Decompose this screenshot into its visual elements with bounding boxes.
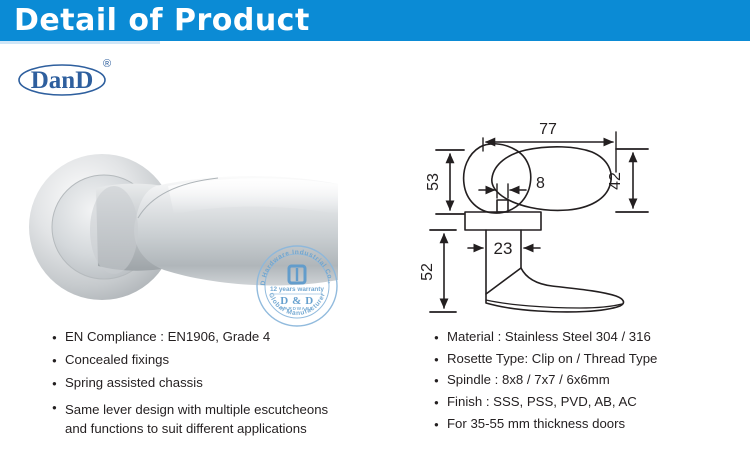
side-view-rosette-plate [465, 212, 541, 230]
dim-53-label: 53 [425, 173, 442, 191]
header-underline-accent [0, 41, 160, 44]
brand-logo: DanD ® [18, 52, 128, 98]
left-feature-list: EN Compliance : EN1906, Grade 4 Conceale… [52, 330, 382, 448]
dim-77-label: 77 [539, 121, 557, 138]
header-banner: Detail of Product [0, 0, 750, 41]
dim-23-label: 23 [494, 239, 513, 258]
seal-subbrand: HARDWARE [280, 306, 313, 311]
warranty-seal: D&D Hardware Industrial Co.,Ltd Global M… [255, 244, 339, 328]
list-item: For 35-55 mm thickness doors [434, 417, 744, 430]
technical-drawings: 77 53 42 [420, 72, 740, 322]
dim-52-label: 52 [420, 263, 436, 281]
list-item: Finish : SSS, PSS, PVD, AB, AC [434, 395, 744, 408]
top-view-lever [492, 147, 611, 211]
side-view-lever-arm [486, 268, 623, 312]
list-item: Spring assisted chassis [52, 376, 382, 389]
logo-wordmark: DanD [31, 67, 94, 94]
lever-top-view: 77 53 42 [425, 121, 648, 214]
list-item: Material : Stainless Steel 304 / 316 [434, 330, 744, 343]
page-title: Detail of Product [14, 3, 310, 38]
dim-42-label: 42 [607, 172, 624, 190]
seal-warranty-text: 12 years warranty [270, 286, 324, 293]
dim-8-label: 8 [536, 175, 545, 192]
list-item: Rosette Type: Clip on / Thread Type [434, 352, 744, 365]
right-feature-list: Material : Stainless Steel 304 / 316 Ros… [434, 330, 744, 439]
side-view-spindle [497, 200, 508, 212]
list-item: Spindle : 8x8 / 7x7 / 6x6mm [434, 373, 744, 386]
list-item: Concealed fixings [52, 353, 382, 366]
list-item: Same lever design with multiple escutche… [52, 400, 382, 438]
list-item: EN Compliance : EN1906, Grade 4 [52, 330, 382, 343]
registered-trademark-icon: ® [103, 58, 111, 70]
neck-base-shadow [90, 186, 138, 274]
